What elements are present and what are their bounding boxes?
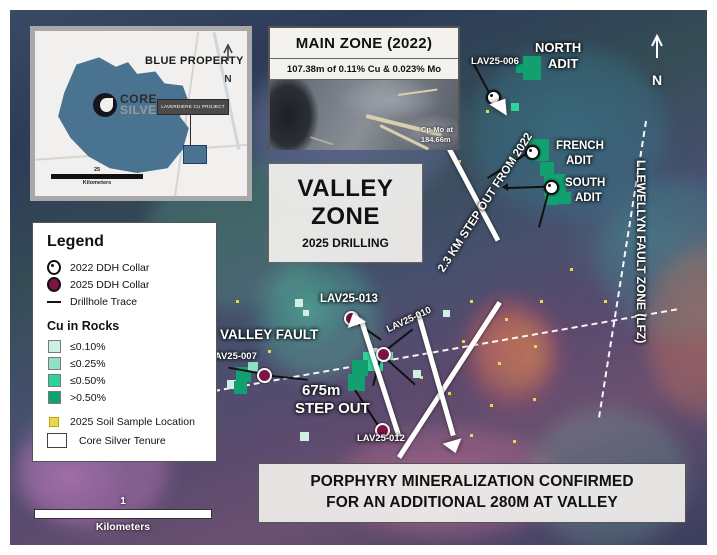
label-south-adit-line1: SOUTH [565,177,605,189]
legend-cu-class: ≤0.50% [47,372,204,389]
ddh-collar-2022[interactable] [544,180,559,195]
legend-item-label: 2025 DDH Collar [70,279,149,291]
collar-2025-icon [47,277,61,292]
main-zone-photo-panel: MAIN ZONE (2022) 107.38m of 0.11% Cu & 0… [268,26,460,150]
cu-rock-sample [413,370,421,378]
legend-item-collar-2022: 2022 DDH Collar [47,259,204,276]
figure-root: N [0,0,717,555]
valley-zone-line1: VALLEY [298,176,394,201]
cu-rock-sample [556,192,571,204]
headline-banner: PORPHYRY MINERALIZATION CONFIRMED FOR AN… [258,463,686,523]
soil-sample-icon [47,417,61,427]
banner-line2: FOR AN ADDITIONAL 280M AT VALLEY [326,493,618,514]
north-arrow-icon [221,43,235,69]
legend-cu-class: ≤0.10% [47,338,204,355]
legend-cu-title: Cu in Rocks [47,319,204,333]
ddh-collar-2025[interactable] [257,368,272,383]
soil-sample-point [498,362,501,365]
soil-sample-point [490,404,493,407]
label-valley-fault: VALLEY FAULT [220,327,318,342]
legend-item-drillhole-trace: Drillhole Trace [47,293,204,310]
cu-swatch-icon [47,391,61,404]
soil-sample-point [533,398,536,401]
cu-rock-sample [295,299,303,307]
core-silver-logo: CORE SILVER [93,93,166,117]
soil-sample-point [470,434,473,437]
photo-annotation-line1: Cp-Mo at [421,125,453,134]
main-scale-bar: 1 Kilometers [34,496,212,533]
scale-number: 1 [34,496,212,507]
photo-annotation: Cp-Mo at 184.66m [421,125,453,144]
legend-cu-label: ≤0.10% [70,341,106,353]
inset-property-map: BLUE PROPERTY CORE SILVER N LAVERDIERE C… [30,26,252,201]
project-area-box [183,145,207,164]
tenure-swatch-icon [47,433,67,448]
north-arrow-icon [648,34,666,68]
legend-item-label: Drillhole Trace [70,296,137,308]
label-lav25-013: LAV25-013 [320,293,378,305]
soil-sample-point [513,440,516,443]
cu-rock-sample [300,432,309,441]
legend-cu-label: >0.50% [70,392,106,404]
legend-panel: Legend 2022 DDH Collar 2025 DDH Collar D… [32,222,217,462]
legend-item-label: 2025 Soil Sample Location [70,416,195,428]
cu-swatch-icon [47,340,61,353]
valley-zone-label-box: VALLEY ZONE 2025 DRILLING [268,163,423,263]
collar-2022-icon [47,260,61,275]
soil-sample-point [540,300,543,303]
cu-rock-sample [303,310,309,316]
scale-bar-graphic [34,509,212,519]
drill-core-photo: Cp-Mo at 184.66m [270,80,458,150]
legend-item-tenure: Core Silver Tenure [47,430,204,451]
soil-sample-point [470,300,473,303]
label-french-adit-line1: FRENCH [556,140,604,152]
cu-rock-sample [348,374,365,391]
cu-rock-sample [523,56,541,80]
legend-cu-label: ≤0.50% [70,375,106,387]
core-silver-logo-icon [93,93,117,117]
label-step-out-675-line1: 675m [302,382,340,399]
soil-sample-point [462,340,465,343]
drillhole-trace-icon [47,301,61,303]
north-arrow-label: N [221,74,235,85]
soil-sample-point [236,300,239,303]
label-llewellyn-fault-zone: LLEWELLYN FAULT ZONE (LFZ) [634,160,648,343]
label-lav25-012: LAV25-012 [357,433,405,444]
north-arrow-inset: N [221,43,235,85]
soil-sample-point [448,392,451,395]
scale-unit: Kilometers [34,521,212,533]
legend-item-label: 2022 DDH Collar [70,262,149,274]
label-south-adit-line2: ADIT [575,192,602,204]
label-north-adit-line2: ADIT [548,56,578,71]
inset-scale-unit: Kilometers [51,180,143,186]
ddh-collar-2025[interactable] [376,347,391,362]
photo-panel-assay: 107.38m of 0.11% Cu & 0.023% Mo [270,59,458,80]
valley-zone-line3: 2025 DRILLING [302,236,389,250]
legend-item-label: Core Silver Tenure [79,435,166,447]
inset-scale-number: 25 [51,167,143,173]
soil-sample-point [534,345,537,348]
inset-scale-bar: 25 Kilometers [51,167,143,186]
label-french-adit-line2: ADIT [566,155,593,167]
cu-swatch-icon [47,374,61,387]
cu-rock-sample [443,310,450,317]
photo-annotation-line2: 184.66m [421,135,453,144]
cu-swatch-icon [47,357,61,370]
north-arrow-label: N [648,73,666,87]
legend-cu-class: ≤0.25% [47,355,204,372]
label-step-out-675-line2: STEP OUT [295,400,370,417]
label-lav25-006: LAV25-006 [471,56,519,67]
banner-line1: PORPHYRY MINERALIZATION CONFIRMED [310,472,633,493]
soil-sample-point [570,268,573,271]
legend-cu-class: >0.50% [47,389,204,406]
north-arrow-main: N [648,34,666,87]
soil-sample-point [268,350,271,353]
legend-cu-label: ≤0.25% [70,358,106,370]
legend-title: Legend [47,233,204,251]
soil-sample-point [486,110,489,113]
soil-sample-point [604,300,607,303]
valley-zone-line2: ZONE [311,204,380,229]
photo-panel-title: MAIN ZONE (2022) [270,28,458,59]
cu-rock-sample [234,381,247,394]
laverdiere-callout: LAVERDIERE CU PROJECT [157,99,229,115]
inset-scale-bar-graphic [51,174,143,179]
legend-item-collar-2025: 2025 DDH Collar [47,276,204,293]
label-north-adit-line1: NORTH [535,40,581,55]
soil-sample-point [505,318,508,321]
callout-leader-line [190,115,191,147]
legend-item-soil-sample: 2025 Soil Sample Location [47,413,204,430]
